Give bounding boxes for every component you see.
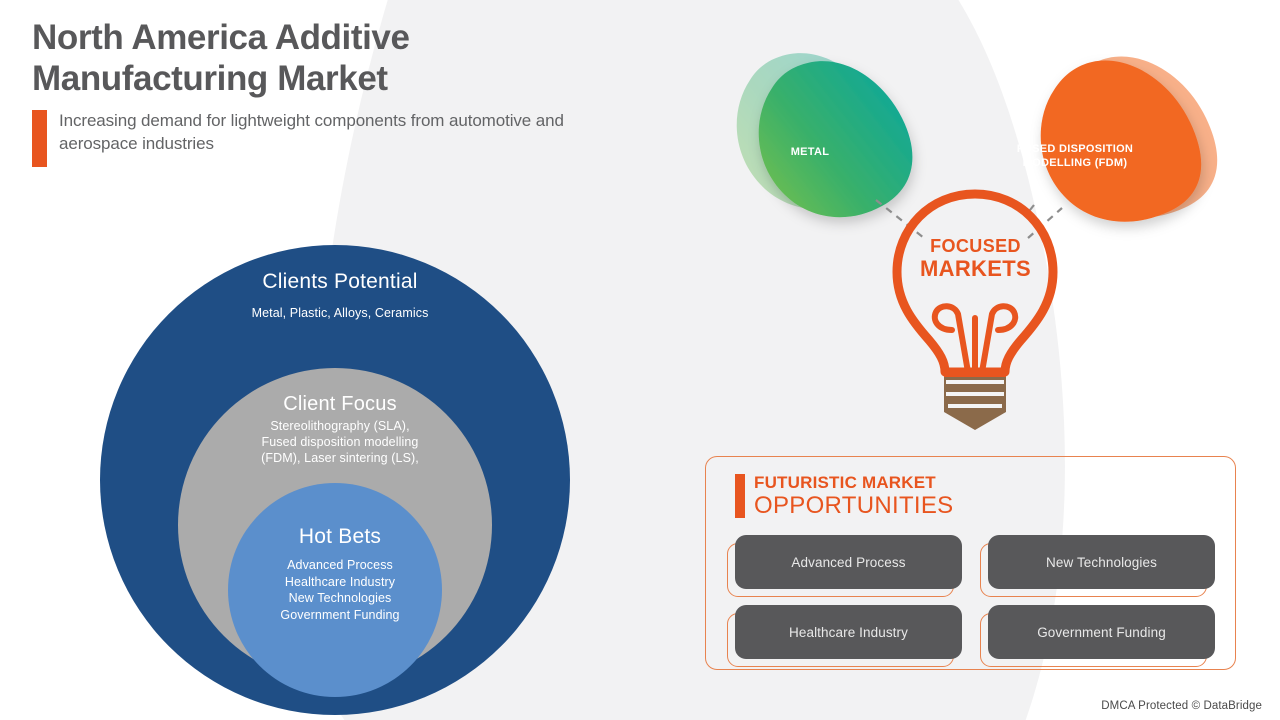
card-row: Advanced Process New Technologies	[735, 535, 1215, 589]
card-row: Healthcare Industry Government Funding	[735, 605, 1215, 659]
bulb-line-2: MARKETS	[908, 256, 1043, 282]
opportunity-card-advanced-process[interactable]: Advanced Process	[735, 535, 962, 589]
footer-credit: DMCA Protected © DataBridge	[1101, 700, 1262, 712]
infographic-canvas: North America Additive Manufacturing Mar…	[0, 0, 1280, 720]
opportunity-card-wrap: New Technologies	[988, 535, 1215, 589]
panel-accent-bar	[735, 474, 745, 518]
bulb-line-1: FOCUSED	[908, 236, 1043, 257]
fdm-node-label: FUSED DISPOSITIONMODELLING (FDM)	[975, 142, 1175, 171]
focused-markets-labels: METAL FUSED DISPOSITIONMODELLING (FDM)	[700, 0, 1280, 460]
opportunity-card-government-funding[interactable]: Government Funding	[988, 605, 1215, 659]
focused-markets-text: FOCUSED MARKETS	[908, 236, 1043, 282]
opportunity-card-wrap: Advanced Process	[735, 535, 962, 589]
opportunity-card-healthcare-industry[interactable]: Healthcare Industry	[735, 605, 962, 659]
opportunity-cards: Advanced Process New Technologies Health…	[735, 535, 1215, 675]
opportunity-card-wrap: Government Funding	[988, 605, 1215, 659]
panel-heading: FUTURISTIC MARKET OPPORTUNITIES	[735, 474, 954, 518]
opportunity-card-wrap: Healthcare Industry	[735, 605, 962, 659]
futuristic-opportunities-panel: FUTURISTIC MARKET OPPORTUNITIES Advanced…	[705, 456, 1236, 670]
opportunity-card-new-technologies[interactable]: New Technologies	[988, 535, 1215, 589]
metal-node-label: METAL	[730, 145, 890, 159]
panel-heading-line-2: OPPORTUNITIES	[754, 493, 954, 518]
panel-heading-line-1: FUTURISTIC MARKET	[754, 474, 954, 491]
